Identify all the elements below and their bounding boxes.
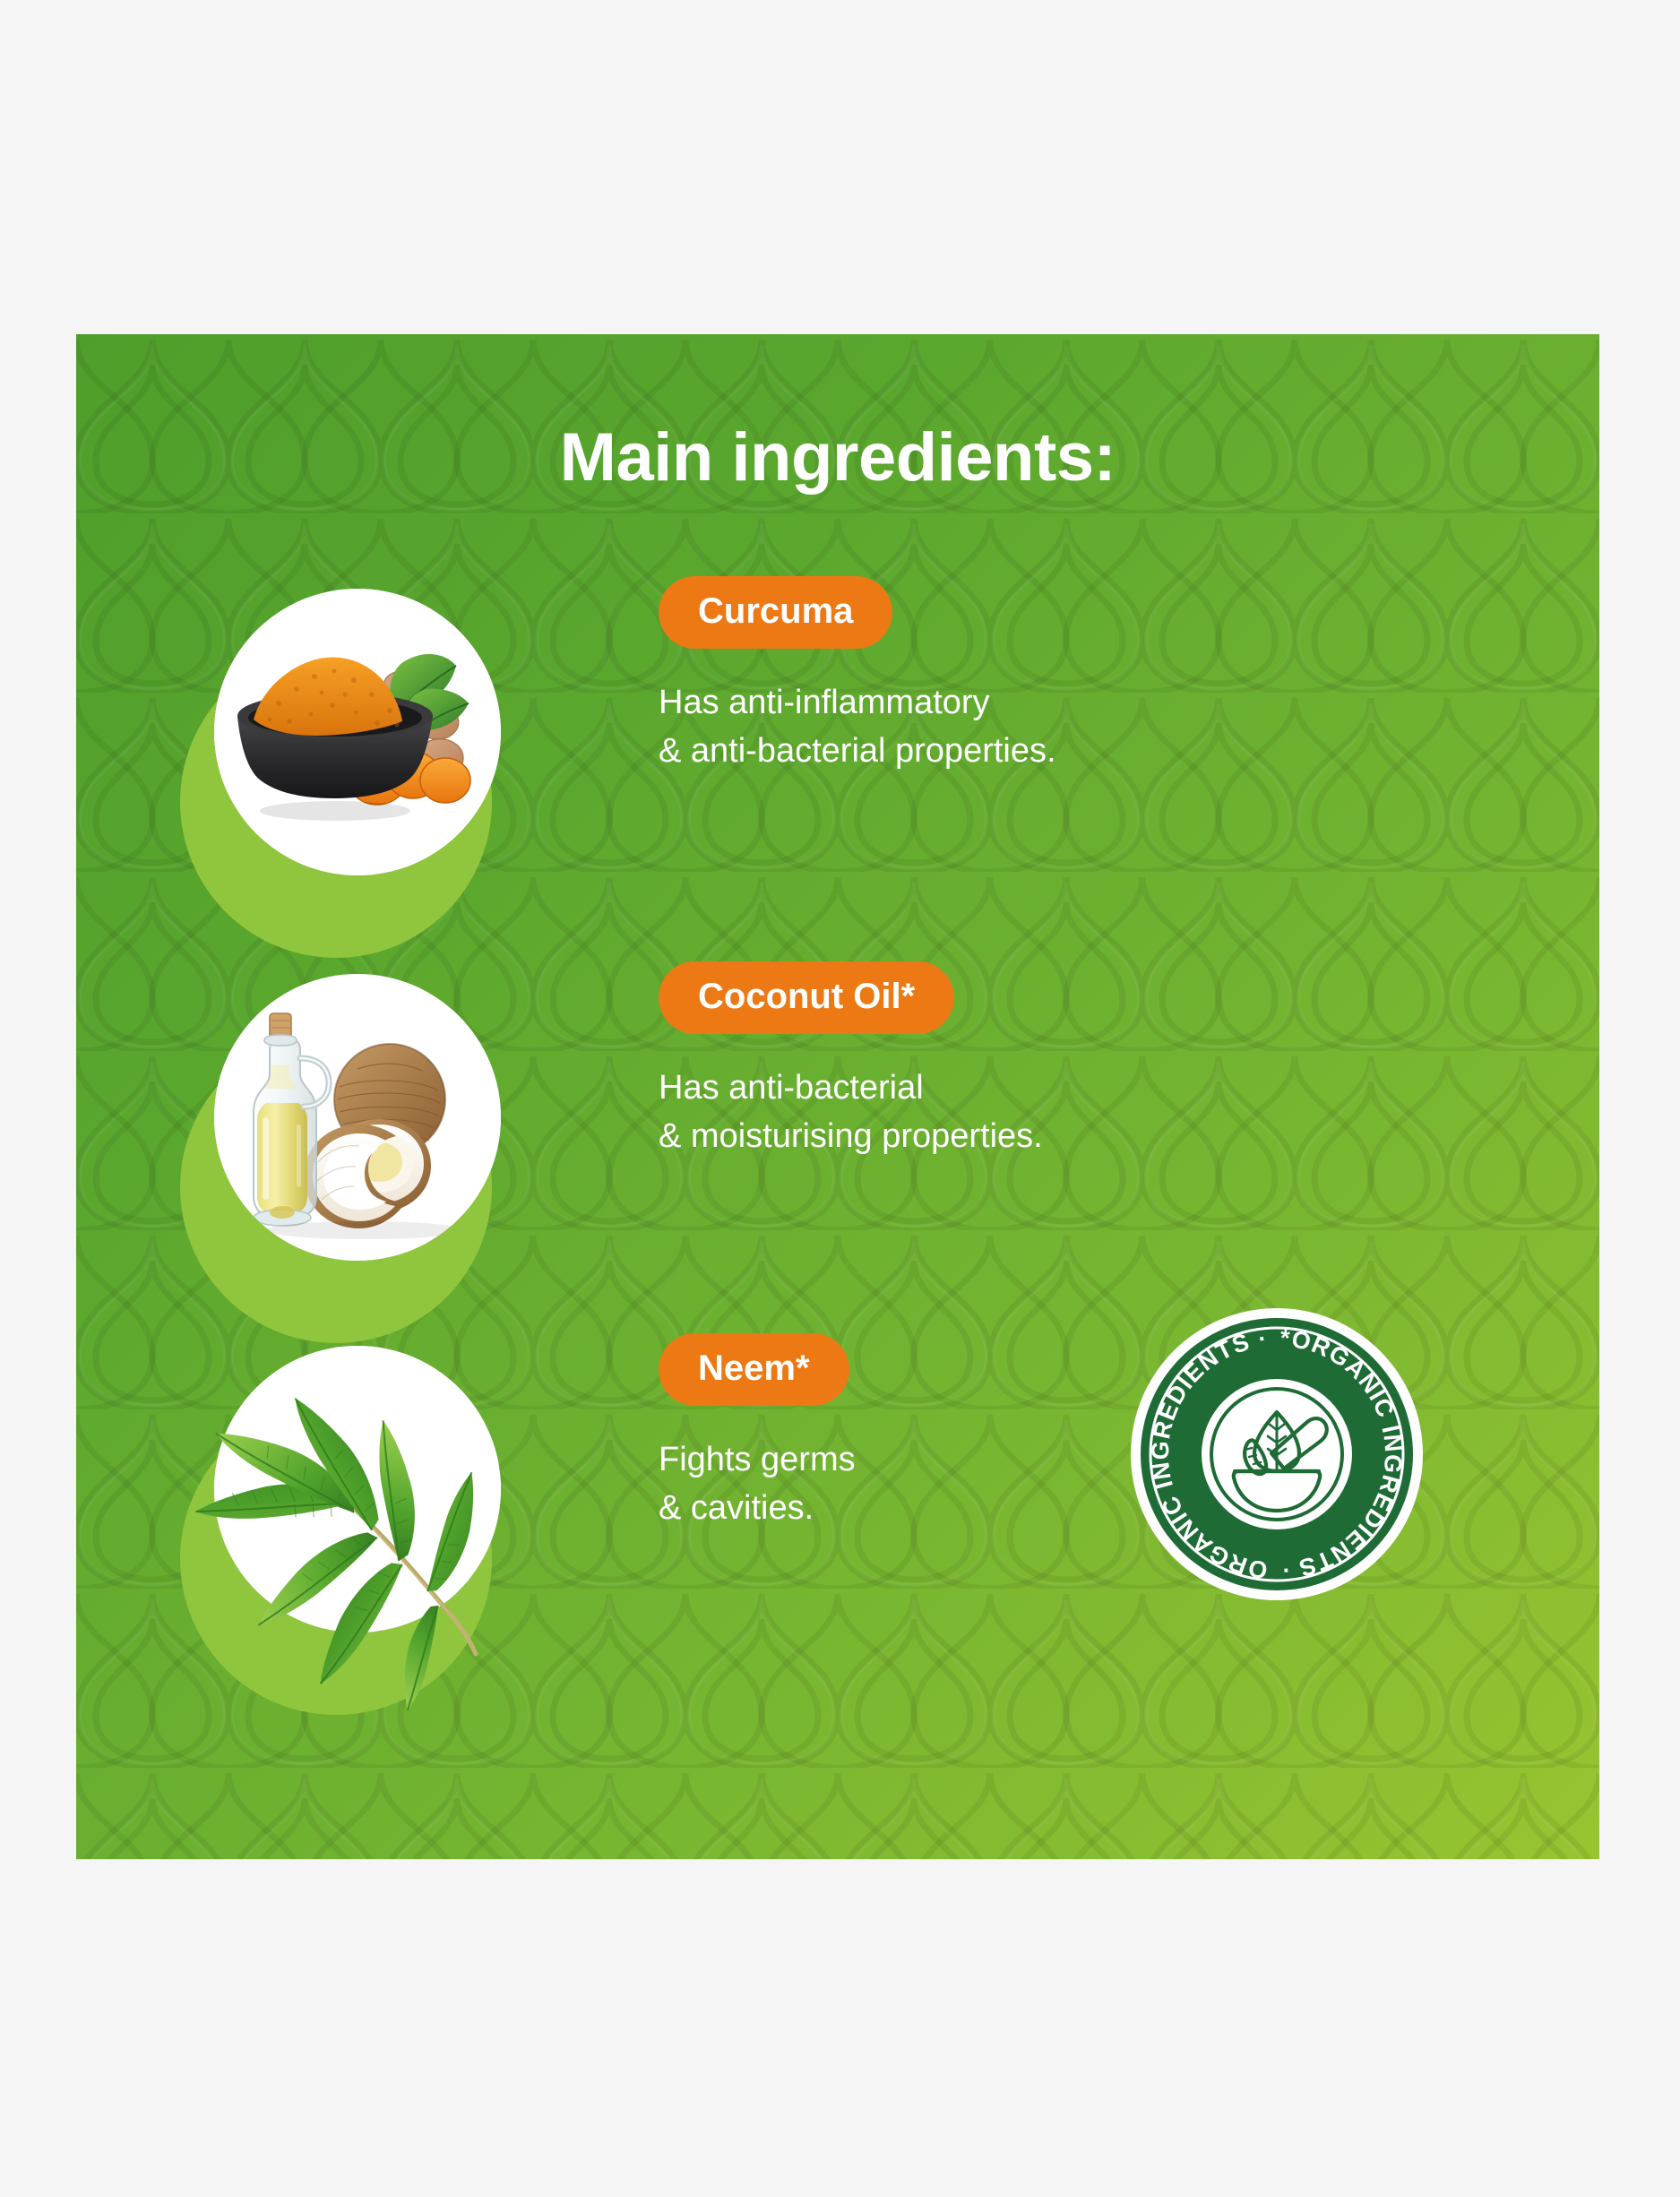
ingredient-name-pill[interactable]: Curcuma [659,576,892,649]
ingredient-row-coconut-oil: Coconut Oil* Has anti-bacterial & moistu… [76,961,1599,1257]
ingredients-infographic: Main ingredients: [0,0,1680,2197]
ingredient-description: Has anti-bacterial & moisturising proper… [659,1064,1501,1161]
neem-leaf-photo [134,1292,582,1713]
ingredient-name-pill[interactable]: Neem* [659,1333,849,1406]
neem-media [166,1333,524,1629]
curcuma-media [166,576,524,872]
ingredient-row-curcuma: Curcuma Has anti-inflammatory & anti-bac… [76,576,1599,872]
ingredient-description: Has anti-inflammatory & anti-bacterial p… [659,679,1501,776]
photo-circle [214,974,501,1261]
coconut-oil-media [166,961,524,1257]
photo-circle [214,589,501,875]
curcuma-photo [214,589,501,875]
photo-circle [214,1346,501,1633]
page-title: Main ingredients: [76,424,1599,492]
curcuma-copy: Curcuma Has anti-inflammatory & anti-bac… [659,576,1501,776]
coconut-oil-photo [214,974,501,1261]
coconut-oil-copy: Coconut Oil* Has anti-bacterial & moistu… [659,961,1501,1161]
green-panel: Main ingredients: [76,334,1599,1859]
organic-ingredients-seal: *ORGANIC INGREDIENTS · ORGANIC INGREDIEN… [1129,1306,1425,1602]
ingredient-name-pill[interactable]: Coconut Oil* [659,961,954,1034]
